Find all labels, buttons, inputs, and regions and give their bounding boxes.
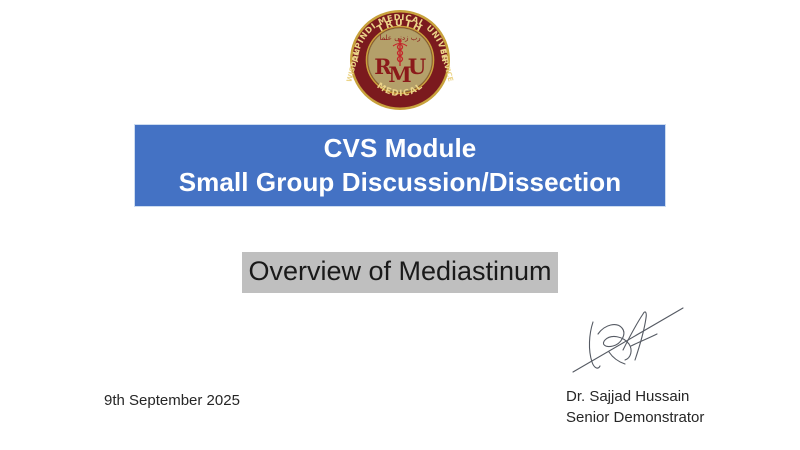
svg-text:U: U <box>408 54 426 79</box>
university-logo: TRUTH RAWALPINDI MEDICAL UNIVERSITY WISD… <box>341 4 459 112</box>
presenter-name: Dr. Sajjad Hussain <box>566 386 704 407</box>
presenter-title: Senior Demonstrator <box>566 407 704 428</box>
title-banner: CVS Module Small Group Discussion/Dissec… <box>134 124 666 207</box>
subtitle-text: Overview of Mediastinum <box>242 252 557 293</box>
rmu-logo-icon: TRUTH RAWALPINDI MEDICAL UNIVERSITY WISD… <box>341 4 459 112</box>
title-line-1: CVS Module <box>324 132 477 166</box>
date-text: 9th September 2025 <box>104 392 240 409</box>
subtitle-container: Overview of Mediastinum <box>0 252 800 293</box>
title-line-2: Small Group Discussion/Dissection <box>179 166 622 200</box>
signature-icon <box>565 300 690 378</box>
presenter-block: Dr. Sajjad Hussain Senior Demonstrator <box>566 386 704 429</box>
presentation-slide: TRUTH RAWALPINDI MEDICAL UNIVERSITY WISD… <box>0 0 800 450</box>
signature <box>565 300 690 378</box>
